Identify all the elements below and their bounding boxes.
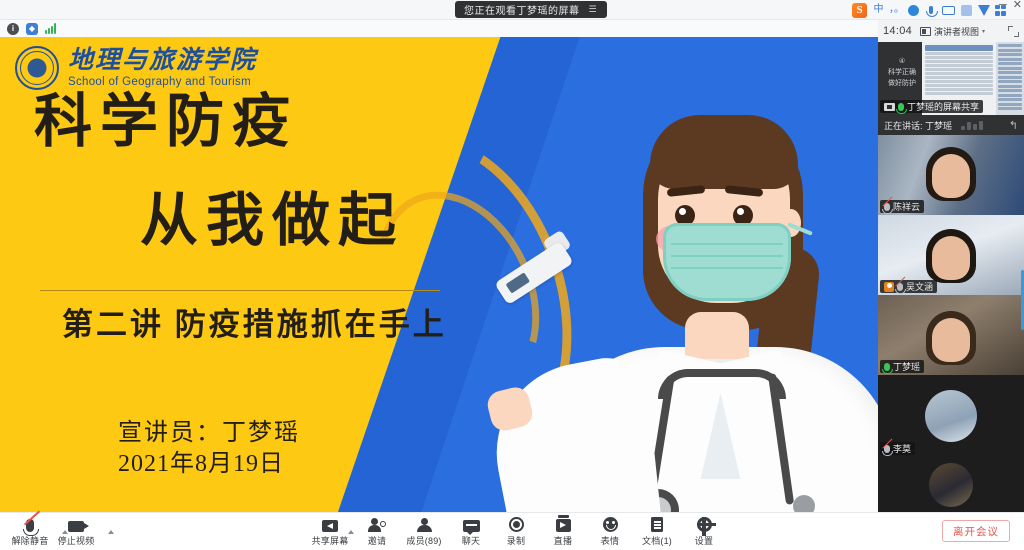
microphone-muted-icon bbox=[897, 283, 903, 291]
ime-punctuation-icon[interactable]: ，。 bbox=[890, 4, 903, 17]
sogou-logo-icon[interactable]: S bbox=[852, 3, 867, 18]
participant-tile-dingmengyao[interactable]: 丁梦瑶 bbox=[878, 295, 1024, 375]
back-arrow-icon[interactable]: ↰ bbox=[1009, 119, 1018, 132]
share-tile-label: 丁梦瑶的屏幕共享 bbox=[880, 100, 983, 113]
microphone-icon bbox=[884, 363, 890, 371]
clock: 14:04 bbox=[883, 25, 912, 37]
settings-button[interactable]: 设置 bbox=[676, 516, 732, 547]
document-icon bbox=[651, 516, 663, 532]
participant-face bbox=[926, 229, 976, 283]
emoji-icon[interactable] bbox=[908, 5, 919, 16]
signal-bars-icon[interactable] bbox=[45, 23, 57, 34]
slide-divider bbox=[40, 290, 440, 291]
gear-icon bbox=[697, 516, 712, 532]
participant-label: 吴文涵 bbox=[880, 280, 937, 293]
speaking-text: 正在讲话: 丁梦瑶 bbox=[884, 119, 952, 132]
participant-tile-wuwenhan[interactable]: 吴文涵 bbox=[878, 215, 1024, 295]
info-icon[interactable]: i bbox=[7, 23, 19, 35]
screen-share-icon bbox=[884, 103, 895, 111]
participant-face bbox=[926, 147, 976, 201]
microphone-icon bbox=[898, 103, 904, 111]
participant-name: 吴文涵 bbox=[906, 280, 933, 293]
sogou-ime-toolbar[interactable]: S 中 ，。 bbox=[852, 1, 1006, 19]
chat-label: 聊天 bbox=[462, 534, 480, 547]
close-icon[interactable]: ✕ bbox=[1013, 0, 1022, 11]
browser-tray-row: i ◆ bbox=[0, 20, 878, 37]
share-screen-label: 共享屏幕 bbox=[312, 534, 349, 547]
shared-screen-slide[interactable]: 地理与旅游学院 School of Geography and Tourism … bbox=[0, 37, 878, 512]
invite-person-icon bbox=[368, 516, 386, 532]
record-label: 录制 bbox=[507, 534, 525, 547]
participant-label: 丁梦瑶 bbox=[880, 360, 924, 373]
live-stream-label: 直播 bbox=[554, 534, 572, 547]
minimize-icon[interactable]: ─ bbox=[999, 0, 1007, 11]
leave-meeting-button[interactable]: 离开会议 bbox=[942, 520, 1010, 542]
slide-title-line1: 科学防疫 bbox=[34, 93, 298, 151]
stop-video-button[interactable]: 停止视频 bbox=[48, 516, 104, 547]
microphone-muted-icon bbox=[884, 445, 890, 453]
participant-tile-chenxiangyun[interactable]: 陈祥云 bbox=[878, 135, 1024, 215]
live-stream-icon bbox=[556, 516, 571, 532]
speaking-status-bar: 正在讲话: 丁梦瑶 ↰ bbox=[878, 115, 1024, 135]
participant-label: 陈祥云 bbox=[880, 200, 924, 213]
school-seal-icon bbox=[15, 46, 59, 90]
view-mode-label: 演讲者视图 bbox=[934, 25, 979, 38]
participant-name: 陈祥云 bbox=[893, 200, 920, 213]
camera-icon bbox=[68, 516, 84, 532]
school-name-cn: 地理与旅游学院 bbox=[68, 48, 257, 74]
doctor-fringe bbox=[650, 115, 798, 189]
avatar bbox=[925, 390, 977, 442]
school-name-en: School of Geography and Tourism bbox=[68, 76, 257, 88]
screen-share-thumbnail[interactable]: ④科学正确做好防护 丁梦瑶的屏幕共享 bbox=[878, 42, 1024, 115]
ime-mode-label[interactable]: 中 bbox=[872, 4, 885, 17]
stethoscope-top bbox=[658, 369, 786, 399]
view-mode-selector[interactable]: 演讲者视图 ▾ bbox=[920, 25, 985, 38]
slide-date: 2021年8月19日 bbox=[118, 446, 284, 482]
document-label: 文档(1) bbox=[642, 534, 672, 547]
shield-icon[interactable]: ◆ bbox=[26, 23, 38, 35]
chevron-down-icon[interactable]: ▾ bbox=[982, 28, 985, 35]
viewing-banner-text: 您正在观看丁梦瑶的屏幕 bbox=[464, 2, 580, 17]
emoji-icon bbox=[603, 516, 618, 532]
host-badge-icon bbox=[884, 282, 894, 292]
share-tile-name: 丁梦瑶的屏幕共享 bbox=[907, 100, 979, 113]
stethoscope-earpiece bbox=[793, 495, 815, 512]
share-preview-text: ④科学正确做好防护 bbox=[882, 56, 922, 90]
hamburger-icon[interactable]: ☰ bbox=[589, 4, 598, 15]
video-options-caret[interactable] bbox=[108, 530, 114, 534]
keyboard-icon[interactable] bbox=[942, 4, 955, 17]
participants-icon bbox=[417, 516, 431, 532]
microphone-muted-icon bbox=[26, 516, 34, 532]
fullscreen-icon[interactable] bbox=[1008, 26, 1019, 37]
handwriting-icon[interactable] bbox=[960, 4, 973, 17]
viewing-screen-banner[interactable]: 您正在观看丁梦瑶的屏幕 ☰ bbox=[455, 1, 607, 18]
participant-label: 李莫 bbox=[880, 442, 915, 455]
share-preview-side bbox=[996, 42, 1024, 115]
slide-subtitle: 第二讲 防疫措施抓在手上 bbox=[62, 309, 447, 340]
chat-bubble-icon bbox=[463, 516, 480, 532]
microphone-muted-icon bbox=[884, 203, 890, 211]
screen-share-icon bbox=[322, 516, 338, 532]
avatar bbox=[929, 463, 973, 507]
slide-title-line2: 从我做起 bbox=[140, 192, 404, 250]
participants-label: 成员(89) bbox=[406, 534, 441, 547]
window-controls[interactable]: ─ ✕ bbox=[999, 0, 1022, 11]
stop-video-label: 停止视频 bbox=[58, 534, 95, 547]
school-logo: 地理与旅游学院 School of Geography and Tourism bbox=[15, 46, 257, 90]
microphone-icon[interactable] bbox=[924, 4, 937, 17]
leave-meeting-label: 离开会议 bbox=[953, 524, 999, 539]
skin-icon[interactable] bbox=[978, 5, 990, 16]
participant-tile-limo[interactable]: 李莫 bbox=[878, 375, 1024, 457]
emoji-label: 表情 bbox=[601, 534, 619, 547]
participant-name: 李莫 bbox=[893, 442, 911, 455]
participant-panel[interactable]: 14:04 演讲者视图 ▾ ④科学正确做好防护 丁梦瑶的屏幕共享 正在讲话: 丁… bbox=[878, 20, 1024, 512]
participant-tile-unnamed[interactable] bbox=[878, 457, 1024, 512]
face-mask-icon bbox=[663, 223, 791, 301]
doctor-illustration bbox=[555, 97, 878, 512]
participant-face bbox=[926, 311, 976, 365]
participant-name: 丁梦瑶 bbox=[893, 360, 920, 373]
record-icon bbox=[509, 516, 524, 532]
audio-wave-icon bbox=[961, 121, 983, 130]
meeting-toolbar[interactable]: 解除静音 停止视频 共享屏幕 邀请 成员(89) 聊天 录制 直播 表情 文档(… bbox=[0, 512, 1024, 550]
meeting-control-bar[interactable]: 14:04 演讲者视图 ▾ bbox=[878, 20, 1024, 42]
speaker-view-icon bbox=[920, 27, 931, 36]
invite-label: 邀请 bbox=[368, 534, 386, 547]
